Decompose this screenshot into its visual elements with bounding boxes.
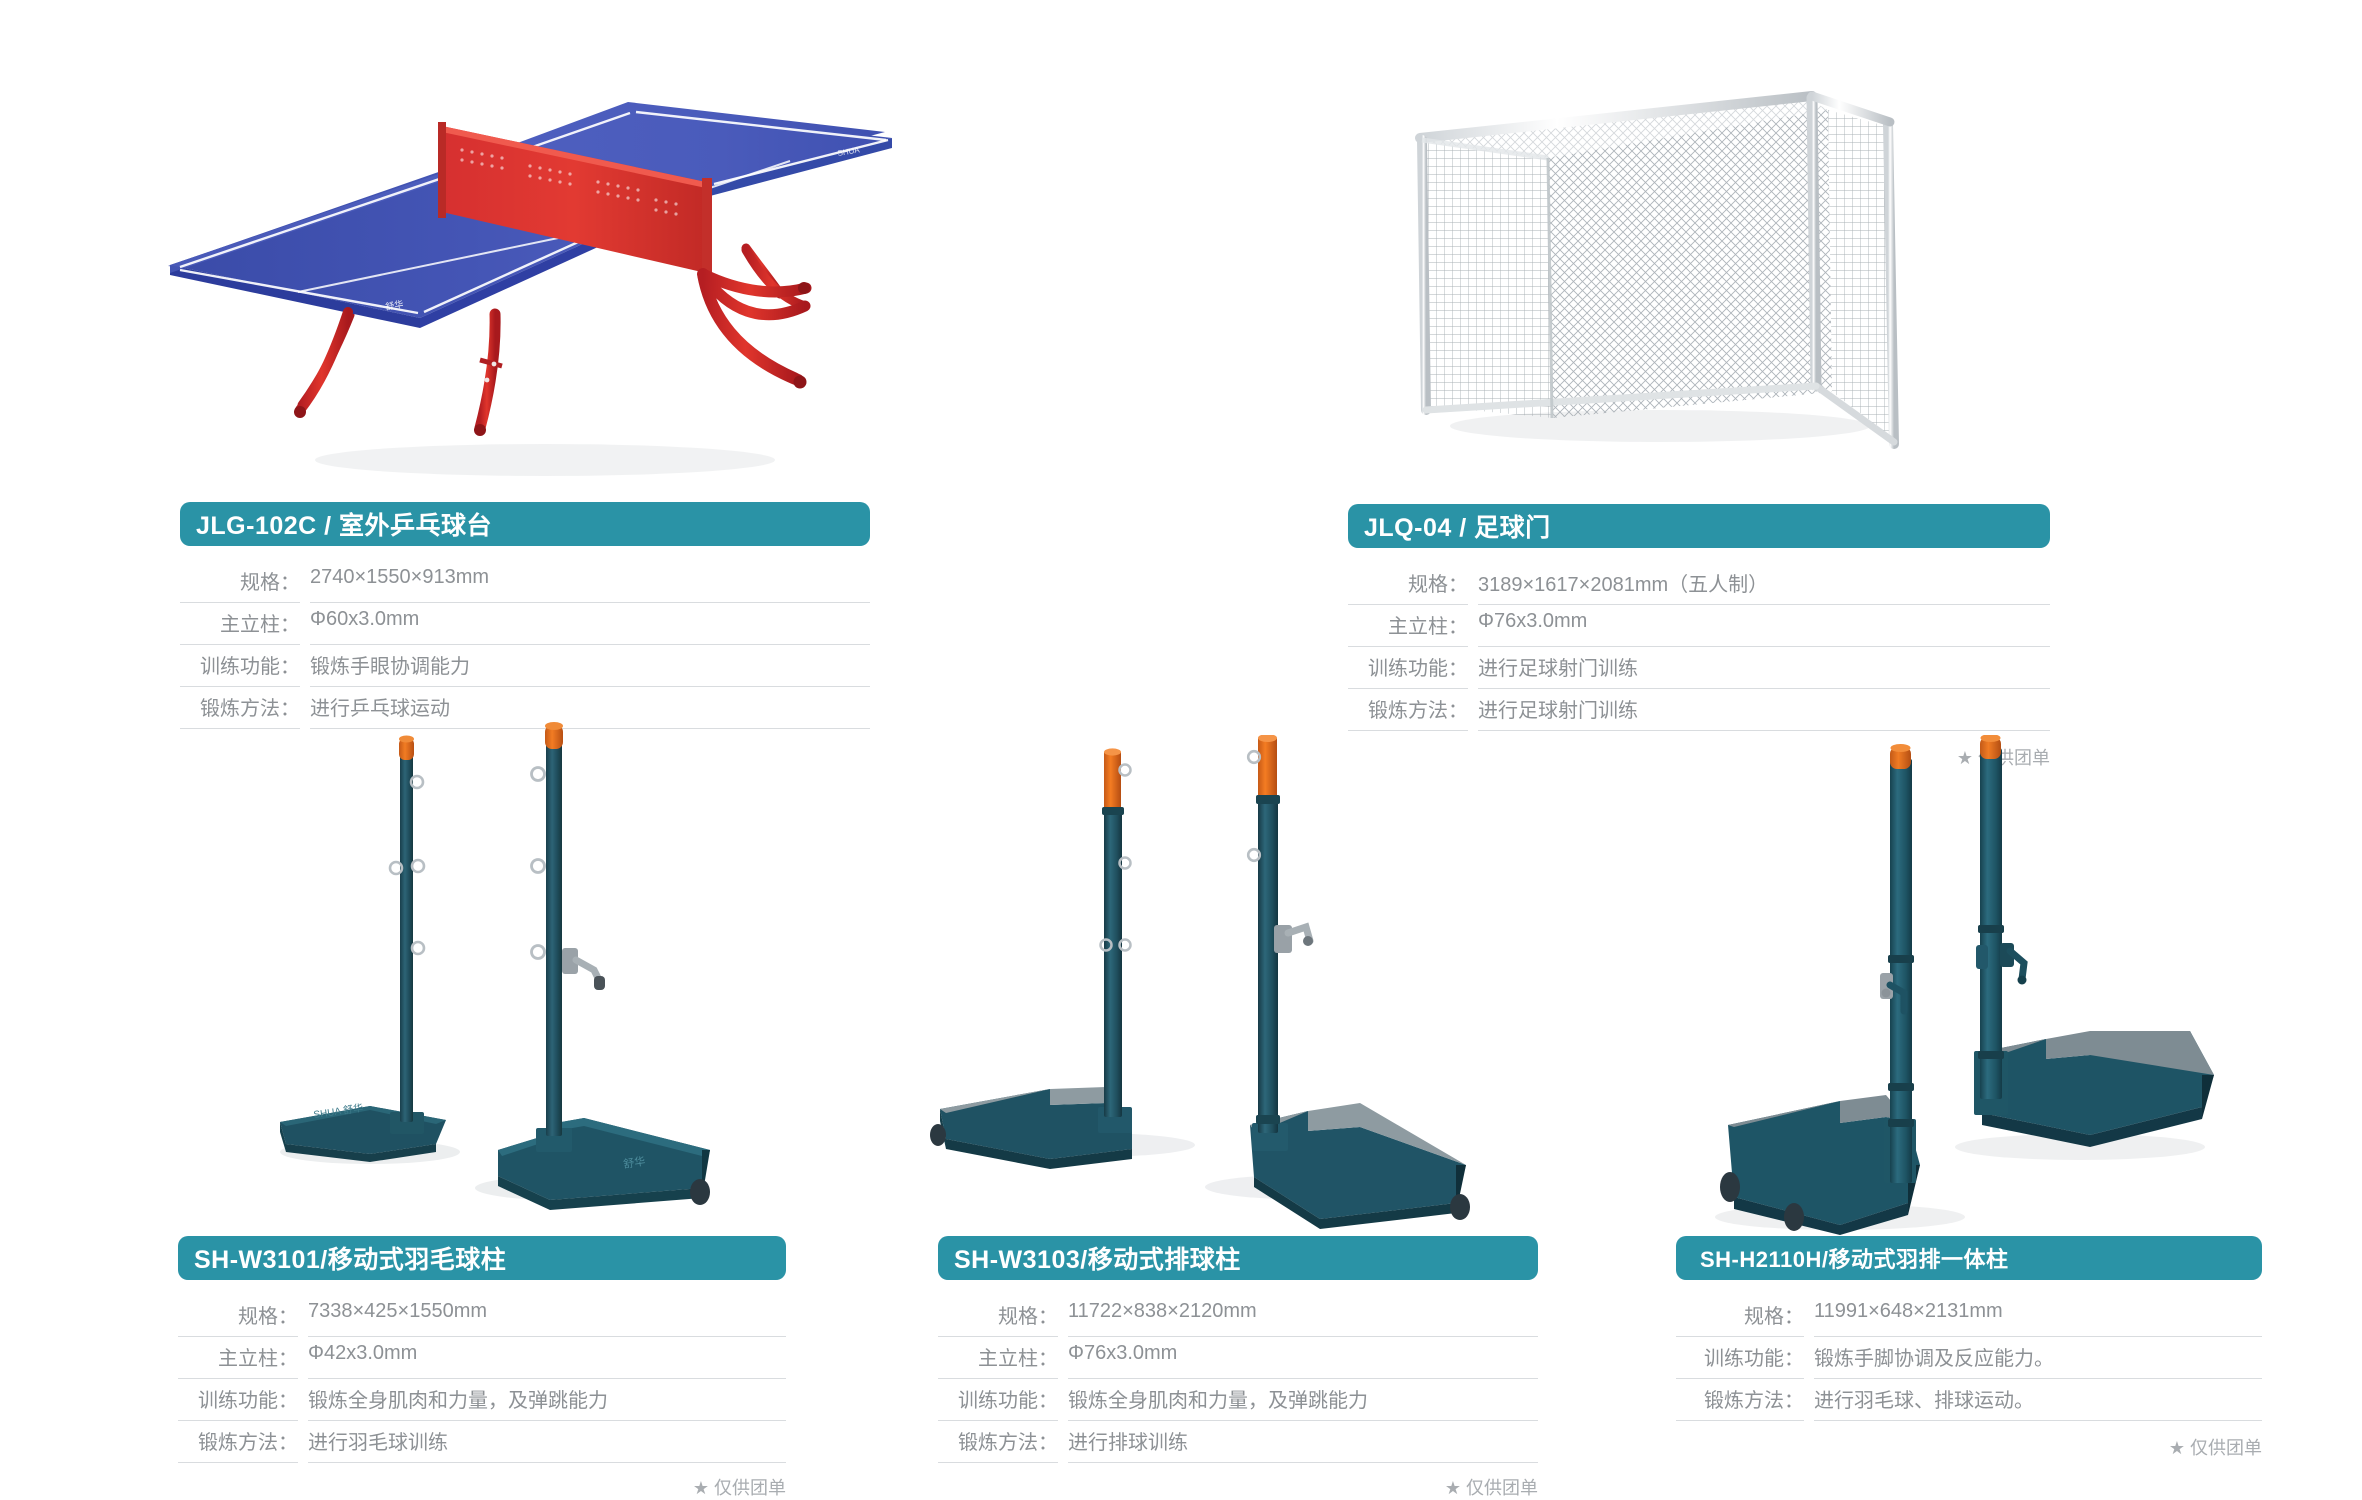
product-card-combo-posts: SH-H2110H/移动式羽排一体柱 规格： 11991×648×2131mm … [1676,1236,2262,1460]
spec-row: 主立柱： Φ76x3.0mm [938,1336,1538,1378]
group-order-note: ★ 仅供团单 [178,1474,786,1500]
spec-value: 11991×648×2131mm [1814,1294,2262,1330]
spec-label: 主立柱： [180,602,300,644]
spec-value: 11722×838×2120mm [1068,1294,1538,1330]
group-order-note: ★ 仅供团单 [1676,1434,2262,1460]
spec-value: 进行排球训练 [1068,1420,1538,1462]
product-catalog-page: 舒华 SHUA JLG-102C / 室外乒乓球台 规格： 2740×1550×… [0,0,2362,1485]
spec-value: 锻炼全身肌肉和力量，及弹跳能力 [308,1378,786,1420]
spec-row: 锻炼方法： 进行羽毛球训练 [178,1420,786,1462]
product-banner: SH-W3101/移动式羽毛球柱 [178,1236,786,1280]
spec-row: 训练功能： 进行足球射门训练 [1348,646,2050,688]
product-title: JLG-102C / 室外乒乓球台 [196,506,492,542]
spec-label: 训练功能： [1348,646,1468,688]
product-title: SH-W3101/移动式羽毛球柱 [194,1240,506,1276]
spec-value: 进行羽毛球训练 [308,1420,786,1462]
product-title: JLQ-04 / 足球门 [1364,508,1551,544]
spec-label: 规格： [938,1294,1058,1336]
product-card-soccer-goal: JLQ-04 / 足球门 规格： 3189×1617×2081mm（五人制） 主… [1348,504,2050,770]
spec-value: 进行羽毛球、排球运动。 [1814,1378,2262,1420]
spec-table: 规格： 11991×648×2131mm 训练功能： 锻炼手脚协调及反应能力。 … [1676,1294,2262,1420]
spec-row: 训练功能： 锻炼全身肌肉和力量，及弹跳能力 [178,1378,786,1420]
spec-label: 训练功能： [178,1378,298,1420]
spec-row: 规格： 7338×425×1550mm [178,1294,786,1336]
spec-row: 规格： 3189×1617×2081mm（五人制） [1348,562,2050,604]
product-banner: JLQ-04 / 足球门 [1348,504,2050,548]
spec-value: 进行足球射门训练 [1478,688,2050,730]
spec-value: 2740×1550×913mm [310,560,870,596]
spec-row: 规格： 2740×1550×913mm [180,560,870,602]
mobile-badminton-posts-photo: SHUA 舒华 舒华 [250,720,750,1230]
spec-label: 规格： [1676,1294,1804,1336]
spec-value: 进行足球射门训练 [1478,646,2050,688]
spec-value: 3189×1617×2081mm（五人制） [1478,562,2050,604]
spec-label: 锻炼方法： [938,1420,1058,1462]
product-title: SH-W3103/移动式排球柱 [954,1240,1241,1276]
soccer-goal-photo [1380,70,1940,480]
spec-row: 锻炼方法： 进行足球射门训练 [1348,688,2050,730]
product-card-volleyball-posts: SH-W3103/移动式排球柱 规格： 11722×838×2120mm 主立柱… [938,1236,1538,1500]
spec-label: 规格： [180,560,300,602]
spec-value: Φ76x3.0mm [1068,1336,1538,1372]
spec-value: Φ76x3.0mm [1478,604,2050,640]
spec-label: 主立柱： [178,1336,298,1378]
spec-label: 锻炼方法： [1348,688,1468,730]
spec-label: 训练功能： [938,1378,1058,1420]
spec-row: 主立柱： Φ76x3.0mm [1348,604,2050,646]
spec-label: 主立柱： [938,1336,1058,1378]
spec-row: 主立柱： Φ60x3.0mm [180,602,870,644]
outdoor-table-tennis-table-photo: 舒华 SHUA [150,60,910,490]
group-order-note: ★ 仅供团单 [938,1474,1538,1500]
spec-value: 锻炼全身肌肉和力量，及弹跳能力 [1068,1378,1538,1420]
product-card-badminton-posts: SH-W3101/移动式羽毛球柱 规格： 7338×425×1550mm 主立柱… [178,1236,786,1500]
spec-table: 规格： 3189×1617×2081mm（五人制） 主立柱： Φ76x3.0mm… [1348,562,2050,730]
product-banner: SH-W3103/移动式排球柱 [938,1236,1538,1280]
spec-label: 训练功能： [1676,1336,1804,1378]
spec-label: 训练功能： [180,644,300,686]
spec-label: 锻炼方法： [178,1420,298,1462]
spec-row: 规格： 11991×648×2131mm [1676,1294,2262,1336]
spec-row: 训练功能： 锻炼手眼协调能力 [180,644,870,686]
product-banner: SH-H2110H/移动式羽排一体柱 [1676,1236,2262,1280]
spec-row: 训练功能： 锻炼全身肌肉和力量，及弹跳能力 [938,1378,1538,1420]
spec-label: 规格： [178,1294,298,1336]
product-card-table-tennis: JLG-102C / 室外乒乓球台 规格： 2740×1550×913mm 主立… [180,502,870,728]
spec-row: 训练功能： 锻炼手脚协调及反应能力。 [1676,1336,2262,1378]
spec-table: 规格： 11722×838×2120mm 主立柱： Φ76x3.0mm 训练功能… [938,1294,1538,1462]
spec-value: 锻炼手眼协调能力 [310,644,870,686]
product-title: SH-H2110H/移动式羽排一体柱 [1700,1242,2009,1274]
spec-value: Φ60x3.0mm [310,602,870,638]
spec-table: 规格： 7338×425×1550mm 主立柱： Φ42x3.0mm 训练功能：… [178,1294,786,1462]
spec-value: 锻炼手脚协调及反应能力。 [1814,1336,2262,1378]
spec-row: 锻炼方法： 进行羽毛球、排球运动。 [1676,1378,2262,1420]
spec-row: 规格： 11722×838×2120mm [938,1294,1538,1336]
spec-value: Φ42x3.0mm [308,1336,786,1372]
spec-row: 主立柱： Φ42x3.0mm [178,1336,786,1378]
spec-label: 锻炼方法： [1676,1378,1804,1420]
mobile-combo-badminton-volleyball-posts-photo [1690,735,2230,1235]
spec-table: 规格： 2740×1550×913mm 主立柱： Φ60x3.0mm 训练功能：… [180,560,870,728]
spec-label: 规格： [1348,562,1468,604]
mobile-volleyball-posts-photo [920,735,1480,1235]
spec-value: 7338×425×1550mm [308,1294,786,1330]
spec-row: 锻炼方法： 进行排球训练 [938,1420,1538,1462]
product-banner: JLG-102C / 室外乒乓球台 [180,502,870,546]
spec-label: 主立柱： [1348,604,1468,646]
